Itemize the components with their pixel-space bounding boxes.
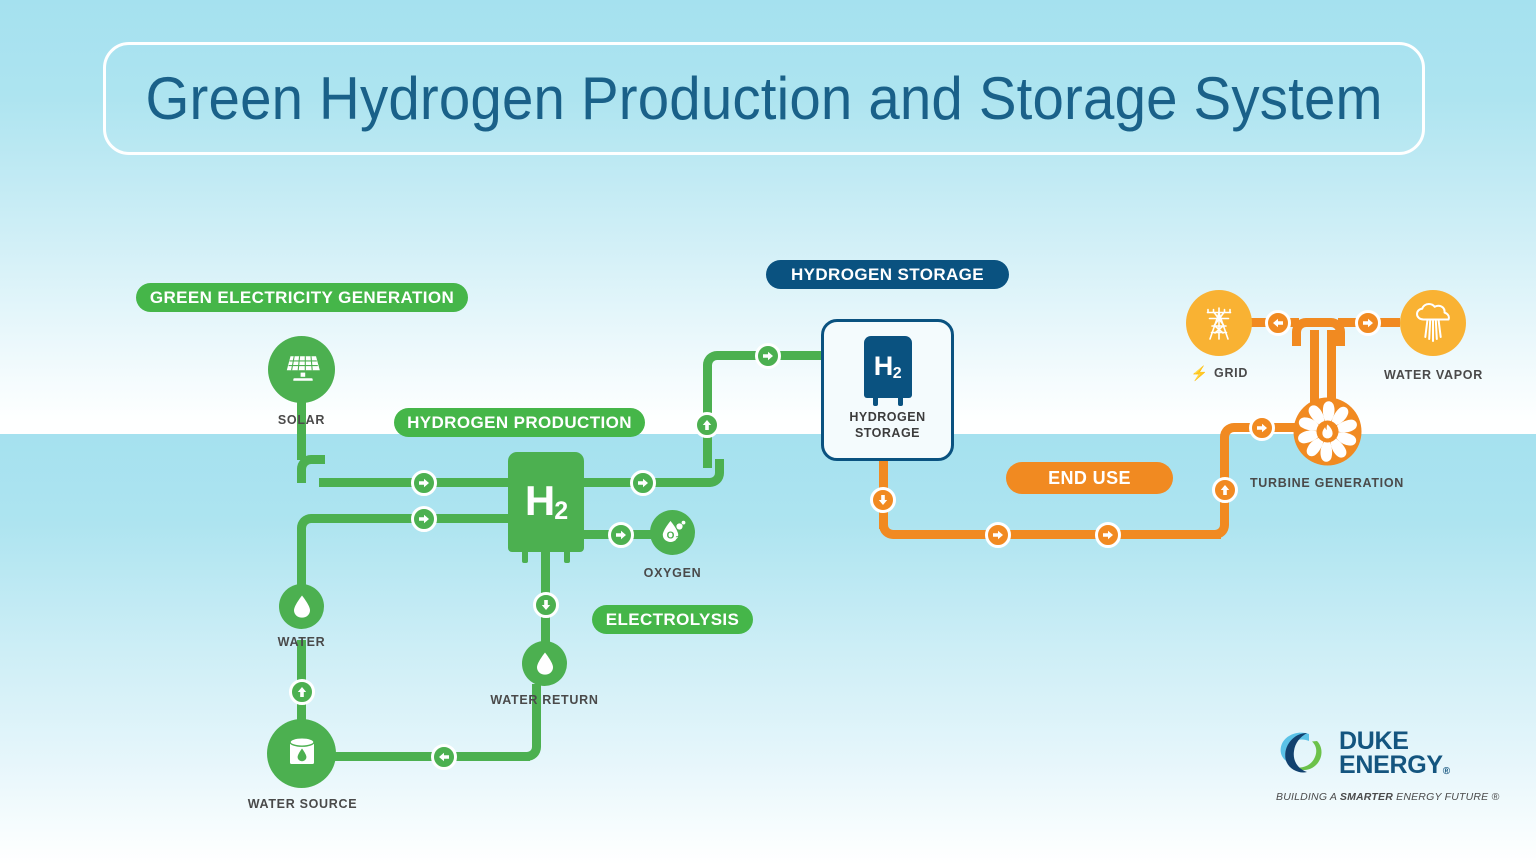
card-label-line2: STORAGE (849, 426, 925, 442)
tank-leg-right (898, 397, 903, 406)
arrow-right-icon (418, 513, 430, 525)
badge-green-electricity-generation: GREEN ELECTRICITY GENERATION (136, 283, 468, 312)
transmission-tower-icon (1202, 303, 1236, 343)
badge-hydrogen-storage: HYDROGEN STORAGE (766, 260, 1009, 289)
duke-energy-swirl-logo (1276, 727, 1330, 779)
electrolyzer-leg-left (522, 551, 528, 563)
arrow-up-icon (701, 419, 713, 431)
arrow-right-icon (637, 477, 649, 489)
arrow-up-icon (1219, 484, 1231, 496)
node-label-water: WATER (236, 635, 367, 649)
path-solar-vertical (297, 400, 306, 460)
card-label-line1: HYDROGEN (849, 410, 925, 426)
node-label-grid: ⚡ GRID (1154, 366, 1285, 380)
node-label-turbine: TURBINE GENERATION (1232, 476, 1422, 490)
water-droplet-icon (292, 594, 312, 619)
arrow-marker-return-to-source (431, 744, 457, 770)
arrow-marker-into-storage (755, 343, 781, 369)
steam-cloud-icon (1413, 302, 1453, 344)
card-hydrogen-storage: H2 HYDROGEN STORAGE (821, 319, 954, 461)
node-label-water-vapor: WATER VAPOR (1368, 368, 1499, 382)
arrow-left-icon (438, 751, 450, 763)
duke-wordmark-line2: ENERGY® (1339, 753, 1450, 777)
arrow-marker-to-water-vapor (1355, 310, 1381, 336)
electrolyzer-leg-right (564, 551, 570, 563)
tagline-post: ENERGY FUTURE ® (1393, 791, 1499, 803)
node-label-water-source: WATER SOURCE (237, 797, 368, 811)
electrolyzer-symbol: H2 (525, 480, 567, 524)
water-tank-icon (282, 735, 322, 773)
arrow-marker-hydrogen-out (630, 470, 656, 496)
duke-energy-tagline: BUILDING A SMARTER ENERGY FUTURE ® (1276, 791, 1466, 803)
node-water-return (522, 641, 567, 686)
arrow-marker-solar-right (411, 470, 437, 496)
node-label-oxygen: OXYGEN (607, 566, 738, 580)
arrow-right-icon (1256, 422, 1268, 434)
node-water (279, 584, 324, 629)
arrow-marker-source-up (289, 679, 315, 705)
badge-hydrogen-production: HYDROGEN PRODUCTION (394, 408, 645, 437)
path-source-horizontal (330, 752, 530, 761)
node-water-source (267, 719, 336, 788)
arrow-right-icon (615, 529, 627, 541)
duke-wordmark-line1: DUKE (1339, 729, 1450, 753)
title-box: Green Hydrogen Production and Storage Sy… (103, 42, 1425, 155)
water-droplet-icon (535, 651, 555, 676)
arrow-marker-hydrogen-riser (694, 412, 720, 438)
arrow-marker-end-use-1 (985, 522, 1011, 548)
arrow-marker-turbine-up (1212, 477, 1238, 503)
node-label-solar: SOLAR (236, 413, 367, 427)
infographic-canvas: Green Hydrogen Production and Storage Sy… (0, 0, 1536, 865)
solar-panel-icon (282, 353, 322, 387)
duke-wordmark-energy: ENERGY (1339, 751, 1443, 779)
arrow-right-icon (418, 477, 430, 489)
duke-logo-row: DUKE ENERGY® (1276, 727, 1466, 779)
node-solar (268, 336, 335, 403)
arrow-marker-into-turbine (1249, 415, 1275, 441)
oxygen-droplet-icon: O 2 (658, 518, 688, 548)
arrow-right-icon (992, 529, 1004, 541)
arrow-marker-storage-down (870, 487, 896, 513)
svg-text:O: O (666, 530, 674, 541)
arrow-up-icon (296, 686, 308, 698)
arrow-marker-water-right (411, 506, 437, 532)
arrow-right-icon (762, 350, 774, 362)
node-label-grid-text: GRID (1214, 366, 1248, 380)
arrow-marker-oxygen-out (608, 522, 634, 548)
badge-label: HYDROGEN PRODUCTION (407, 413, 632, 433)
arrow-marker-to-grid (1265, 310, 1291, 336)
registered-mark: ® (1443, 766, 1450, 777)
arrow-down-icon (877, 494, 889, 506)
arrow-down-icon (540, 599, 552, 611)
path-end-use-horizontal (901, 530, 1221, 539)
node-water-vapor (1400, 290, 1466, 356)
arrow-right-icon (1362, 317, 1374, 329)
arrow-right-icon (1102, 529, 1114, 541)
duke-energy-wordmark: DUKE ENERGY® (1339, 729, 1450, 777)
turbine-rotor-icon (1291, 395, 1364, 468)
badge-electrolysis: ELECTROLYSIS (592, 605, 753, 634)
node-electrolyzer: H2 (508, 452, 584, 552)
node-oxygen: O 2 (650, 510, 695, 555)
svg-text:2: 2 (675, 535, 679, 542)
node-label-water-return: WATER RETURN (479, 693, 610, 707)
hydrogen-tank-icon: H2 (864, 336, 912, 398)
electrolyzer-subscript: 2 (554, 497, 567, 525)
duke-energy-logo: DUKE ENERGY® BUILDING A SMARTER ENERGY F… (1276, 727, 1466, 817)
tank-symbol: H2 (874, 353, 901, 382)
node-turbine (1291, 395, 1364, 468)
lightning-bolt-icon: ⚡ (1191, 366, 1209, 380)
tank-subscript: 2 (893, 365, 901, 382)
badge-label: GREEN ELECTRICITY GENERATION (150, 288, 454, 308)
badge-label: END USE (1048, 468, 1131, 489)
arrow-left-icon (1272, 317, 1284, 329)
badge-label: ELECTROLYSIS (606, 610, 740, 630)
card-label-hydrogen-storage: HYDROGEN STORAGE (849, 410, 925, 441)
node-grid (1186, 290, 1252, 356)
page-title: Green Hydrogen Production and Storage Sy… (145, 64, 1382, 133)
arrow-marker-water-return-down (533, 592, 559, 618)
badge-label: HYDROGEN STORAGE (791, 265, 984, 285)
tagline-bold: SMARTER (1340, 791, 1393, 803)
tank-leg-left (873, 397, 878, 406)
tagline-pre: BUILDING A (1276, 791, 1340, 803)
arrow-marker-end-use-2 (1095, 522, 1121, 548)
badge-end-use: END USE (1006, 462, 1173, 494)
